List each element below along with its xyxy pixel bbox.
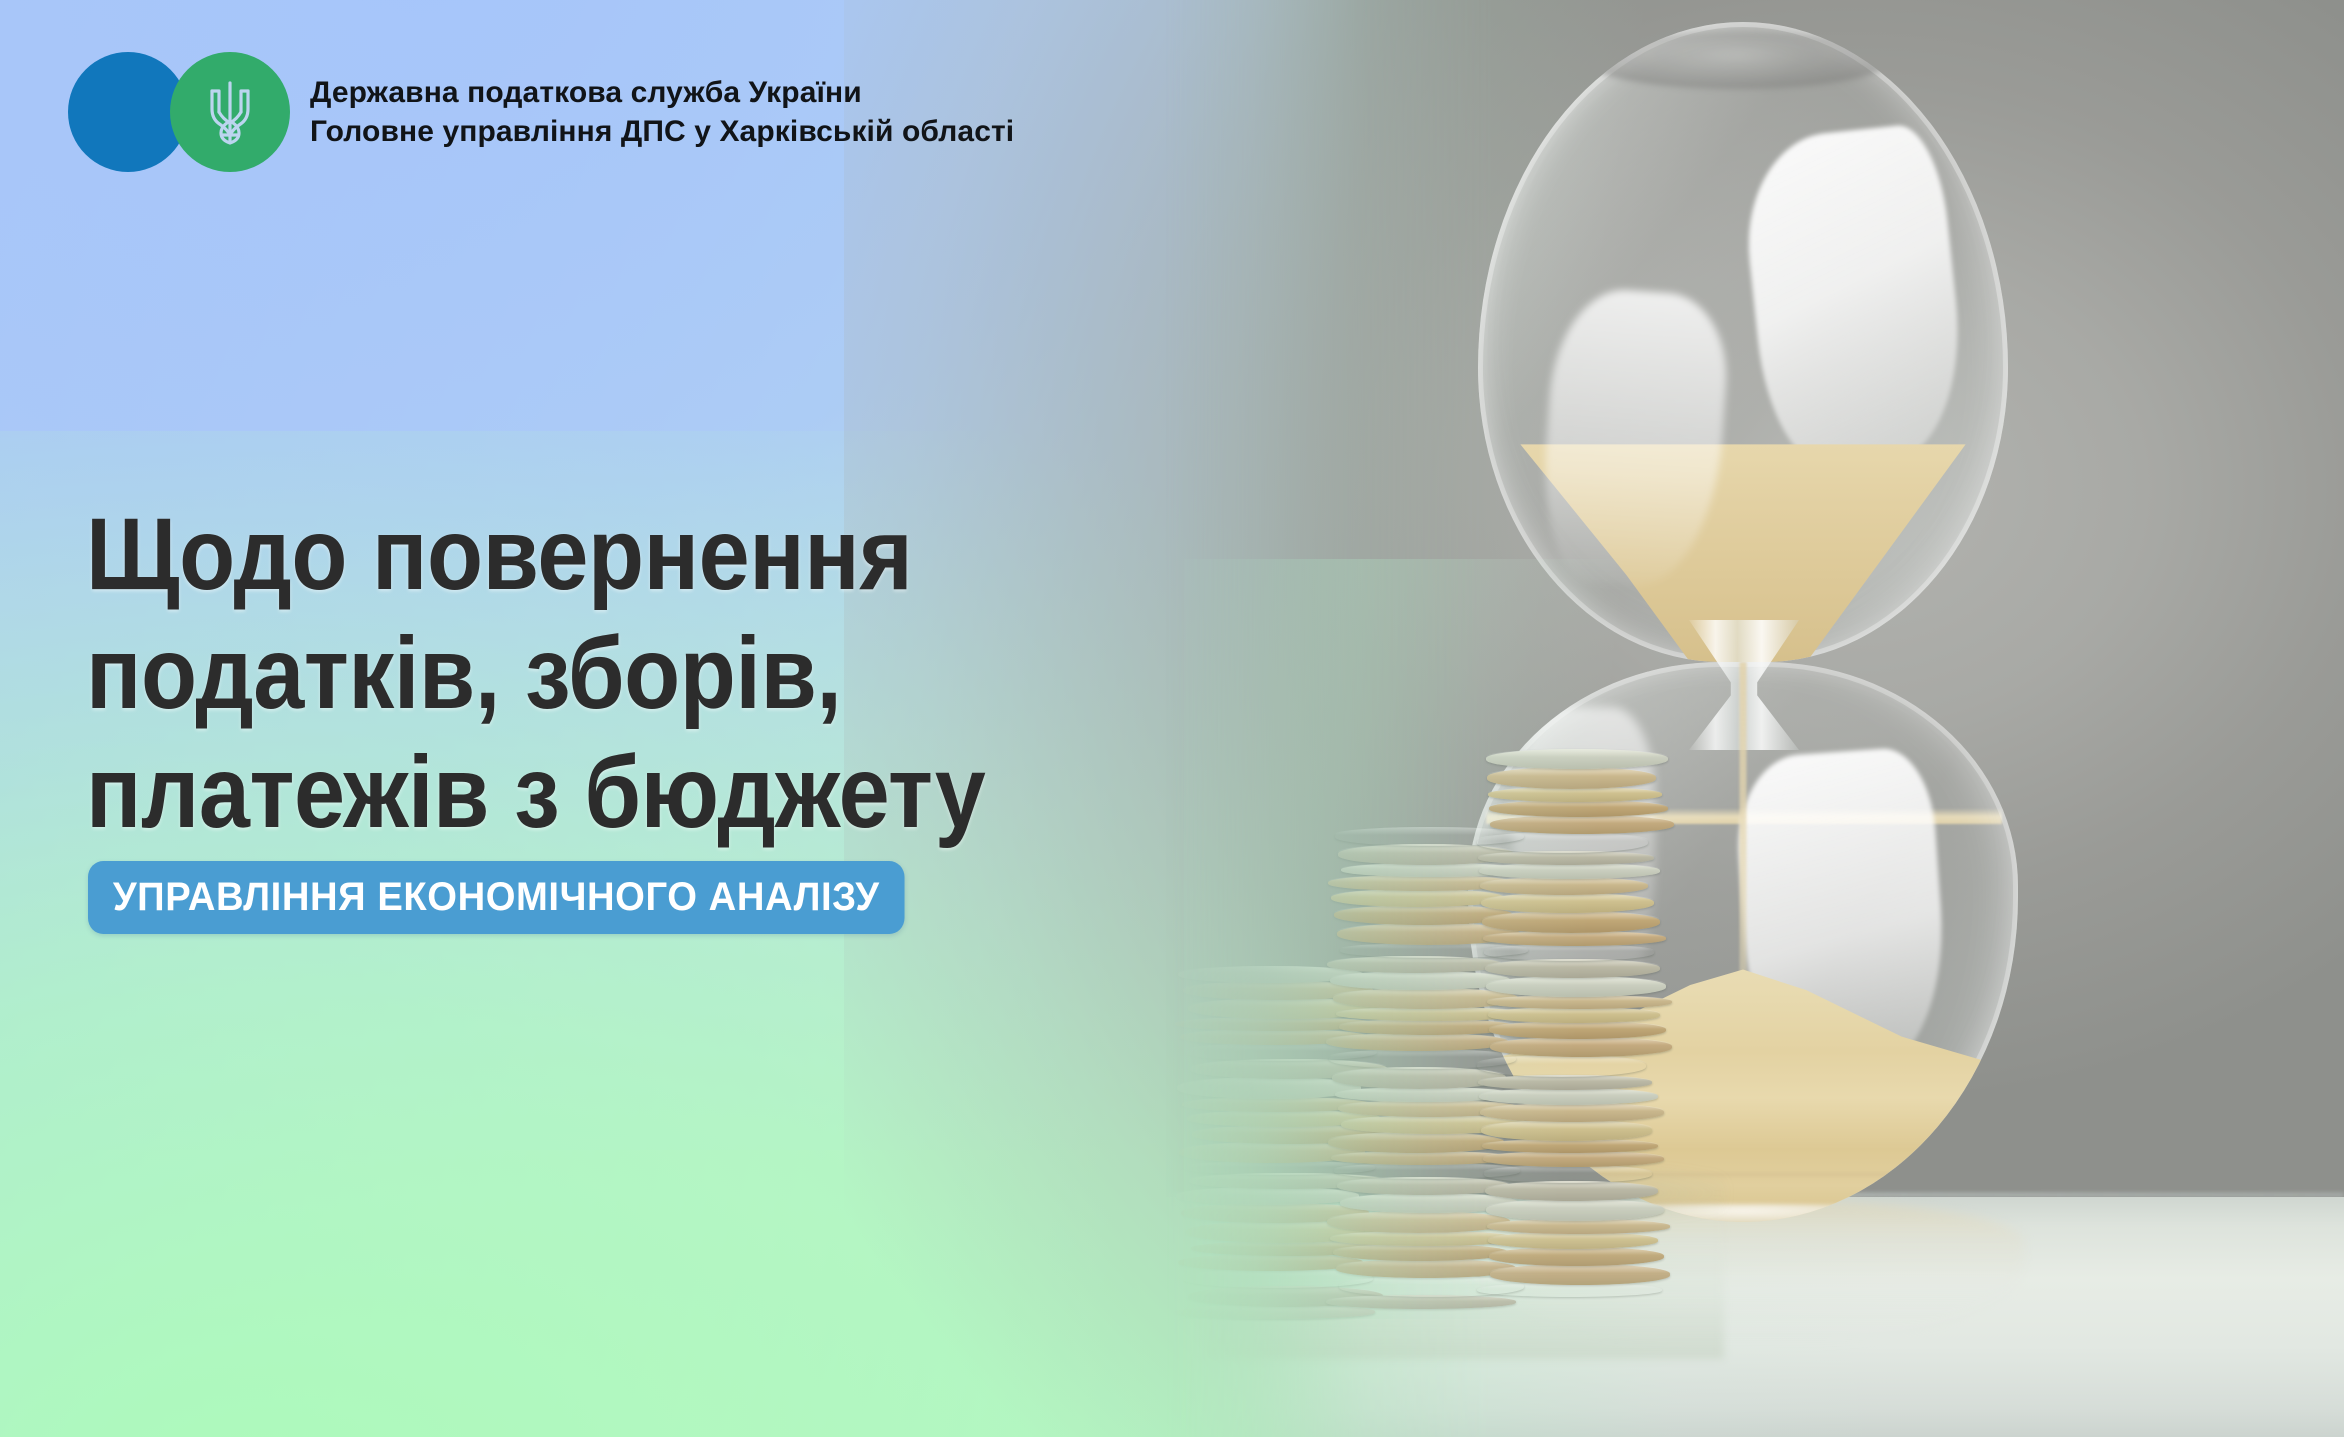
coin <box>1486 749 1668 769</box>
coin <box>1479 1088 1658 1105</box>
coin <box>1481 893 1654 913</box>
logo-marks <box>68 52 290 172</box>
coin <box>1478 1075 1652 1090</box>
coin <box>1327 956 1502 973</box>
coin <box>1332 1067 1506 1089</box>
agency-logo[interactable]: Державна податкова служба України Головн… <box>68 52 1014 172</box>
department-badge: УПРАВЛІННЯ ЕКОНОМІЧНОГО АНАЛІЗУ <box>88 861 904 934</box>
logo-line-2: Головне управління ДПС у Харківській обл… <box>310 112 1014 151</box>
headline-line-2: податків, зборів, <box>86 614 1247 733</box>
coin-stack-icon <box>1184 559 1704 1319</box>
coin <box>1479 863 1660 879</box>
falling-sand-stream <box>1740 662 1747 987</box>
headline-line-3: платежів з бюджету <box>86 733 1247 852</box>
coin <box>1326 1033 1508 1051</box>
coin <box>1481 1120 1652 1141</box>
ukraine-trident-icon <box>201 79 259 145</box>
hourglass-coins-photo <box>1164 0 2344 1437</box>
coin <box>1489 1021 1666 1039</box>
coin <box>1477 1055 1646 1077</box>
coin <box>1486 976 1666 997</box>
coin <box>1487 995 1672 1009</box>
coin <box>1488 1007 1660 1023</box>
coin <box>1488 787 1662 802</box>
coin <box>1482 911 1660 933</box>
coin <box>1485 959 1660 978</box>
coin <box>1483 1151 1664 1167</box>
coin <box>1484 944 1654 961</box>
coin <box>1330 971 1510 990</box>
hourglass-top-rim <box>1584 32 1891 90</box>
headline-line-1: Щодо повернення <box>86 495 1247 614</box>
coin <box>1477 832 1648 853</box>
promo-banner: Державна податкова служба України Головн… <box>0 0 2344 1437</box>
coin <box>1331 889 1504 907</box>
coins-reflection <box>1204 1189 1724 1359</box>
coin <box>1489 800 1668 817</box>
coin <box>1480 1103 1664 1122</box>
coin <box>1483 931 1666 946</box>
coin <box>1328 1132 1504 1153</box>
logo-text: Державна податкова служба України Головн… <box>310 73 1014 151</box>
coin <box>1490 1037 1672 1057</box>
coin <box>1482 1139 1658 1153</box>
coin <box>1487 767 1656 789</box>
page-title: Щодо повернення податків, зборів, платеж… <box>86 495 1247 851</box>
coin <box>1490 815 1674 834</box>
coin <box>1480 877 1648 895</box>
logo-line-1: Державна податкова служба України <box>310 73 1014 112</box>
coin <box>1484 1165 1652 1183</box>
coin <box>1478 851 1654 865</box>
